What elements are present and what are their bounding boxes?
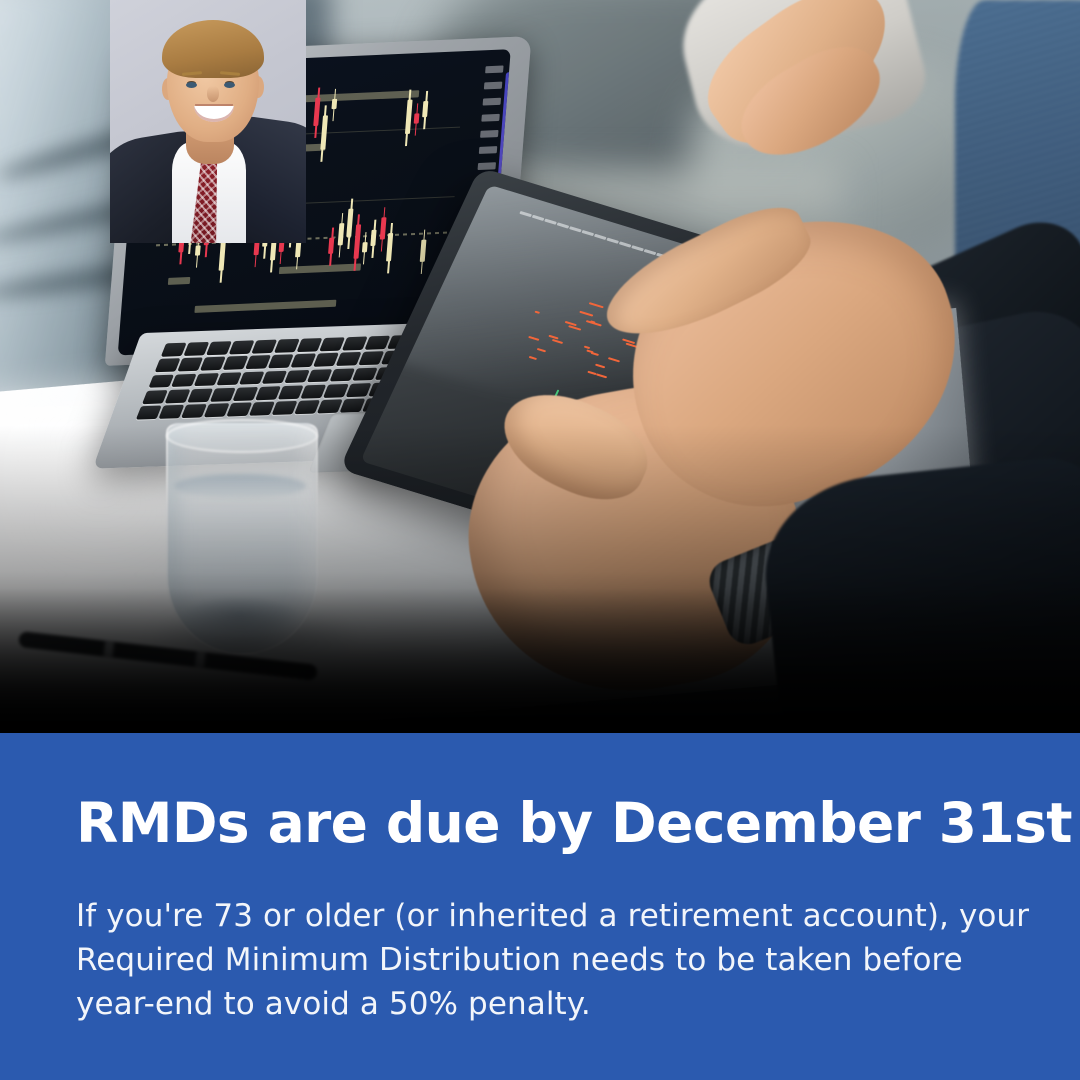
keyboard-key xyxy=(330,368,355,382)
keyboard-key xyxy=(155,358,180,372)
keyboard-key xyxy=(204,403,229,417)
keyboard-key xyxy=(307,369,332,383)
candle xyxy=(279,242,285,252)
keyboard-key xyxy=(223,356,248,370)
keyboard-key xyxy=(200,357,225,371)
keyboard-key xyxy=(187,388,212,402)
keyboard-key xyxy=(239,371,264,385)
candle xyxy=(371,230,377,246)
keyboard-key xyxy=(323,384,348,398)
candle xyxy=(380,217,387,239)
candle xyxy=(337,223,344,245)
page-title: RMDs are due by December 31st xyxy=(76,795,1072,853)
keyboard-key xyxy=(142,390,167,404)
keyboard-key xyxy=(262,370,287,384)
keyboard-key xyxy=(359,351,384,365)
keyboard-key xyxy=(233,387,258,401)
keyboard-key xyxy=(317,400,342,414)
keyboard-key xyxy=(301,385,326,399)
keyboard-key xyxy=(255,386,280,400)
headshot-nose xyxy=(207,86,219,102)
candle xyxy=(195,245,201,255)
keyboard-key xyxy=(294,400,319,414)
price-axis-tick xyxy=(480,130,498,138)
price-axis-tick xyxy=(483,98,501,106)
candle xyxy=(420,240,427,262)
keyboard-key xyxy=(249,402,274,416)
keyboard-key xyxy=(171,373,196,387)
candle xyxy=(423,101,429,117)
keyboard-key xyxy=(148,374,173,388)
keyboard-key xyxy=(177,358,202,372)
candle xyxy=(362,242,368,252)
candle xyxy=(313,98,320,126)
keyboard-key xyxy=(216,372,241,386)
hero-photo xyxy=(0,0,1080,733)
glass-rim xyxy=(166,419,318,453)
keyboard-key xyxy=(340,399,365,413)
keyboard-key xyxy=(291,354,316,368)
keyboard-key xyxy=(206,341,231,355)
keyboard-key xyxy=(319,337,344,351)
table-shadow-gradient xyxy=(0,588,1080,733)
keyboard-key xyxy=(136,406,161,420)
keyboard-key xyxy=(251,340,276,354)
message-band: RMDs are due by December 31st If you're … xyxy=(0,733,1080,1080)
candle xyxy=(414,113,420,123)
keyboard-key xyxy=(284,370,309,384)
price-axis-tick xyxy=(481,114,499,122)
water-line xyxy=(174,474,306,498)
keyboard-key xyxy=(313,353,338,367)
headshot-eye-left xyxy=(186,82,197,88)
keyboard-key xyxy=(297,338,322,352)
keyboard-key xyxy=(181,404,206,418)
keyboard-key xyxy=(342,336,367,350)
keyboard-key xyxy=(272,401,297,415)
price-axis-tick xyxy=(479,146,497,154)
keyboard-key xyxy=(183,342,208,356)
candle xyxy=(353,224,361,258)
price-axis-tick xyxy=(485,65,503,73)
body-paragraph: If you're 73 or older (or inherited a re… xyxy=(76,894,1041,1026)
keyboard-key xyxy=(268,355,293,369)
headshot-eye-right xyxy=(224,82,235,88)
social-card: RMDs are due by December 31st If you're … xyxy=(0,0,1080,1080)
keyboard-key xyxy=(229,340,254,354)
keyboard-key xyxy=(274,339,299,353)
candle xyxy=(219,242,226,270)
keyboard-key xyxy=(346,383,371,397)
price-axis-tick xyxy=(484,82,502,90)
keyboard-key xyxy=(158,405,183,419)
candle xyxy=(346,209,353,237)
keyboard-key xyxy=(161,343,186,357)
keyboard-key xyxy=(278,385,303,399)
candle xyxy=(328,238,334,254)
keyboard-key xyxy=(352,367,377,381)
keyboard-key xyxy=(245,355,270,369)
keyboard-key xyxy=(336,352,361,366)
keyboard-key xyxy=(226,403,251,417)
keyboard-key xyxy=(365,336,390,350)
headshot-hair xyxy=(162,20,264,78)
keyboard-key xyxy=(165,389,190,403)
advisor-headshot xyxy=(110,0,306,243)
candle xyxy=(386,233,393,261)
keyboard-key xyxy=(210,388,235,402)
keyboard-key xyxy=(194,373,219,387)
candle xyxy=(331,99,337,109)
